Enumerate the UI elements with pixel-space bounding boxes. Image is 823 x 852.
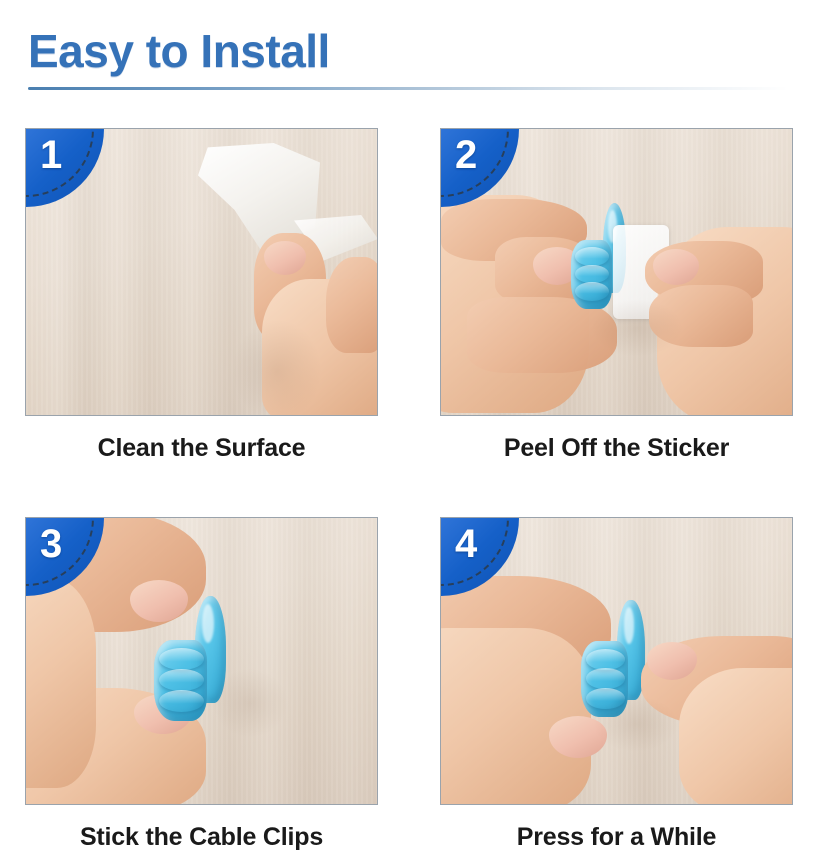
step-card-1: 1 Clean the Surface [25, 128, 378, 463]
clip-wall-shadow [212, 668, 288, 738]
clip-finger-ridge [575, 247, 609, 266]
clip-finger-ridge [575, 282, 609, 301]
clip-finger-ridge [586, 668, 626, 689]
step-caption-3: Stick the Cable Clips [25, 823, 378, 852]
clip-contact-shadow [591, 299, 683, 357]
clip-finger-ridge [586, 649, 626, 670]
clip-finger-ridge [159, 690, 204, 712]
right-hand-body [679, 668, 793, 805]
hand-thumb [326, 257, 378, 353]
step-number-2: 2 [455, 135, 477, 175]
clip-contact-shadow [593, 696, 679, 752]
step-card-4: 4 Press for a While [440, 517, 793, 852]
step-card-2: 2 Peel Off the Sticker [440, 128, 793, 463]
hand-body [25, 578, 96, 788]
step-number-1: 1 [40, 135, 62, 175]
step-card-3: 3 Stick the Cable Clips [25, 517, 378, 852]
step-number-3: 3 [40, 524, 62, 564]
clip-finger-ridge [159, 669, 204, 691]
clip-highlight [624, 607, 635, 644]
clip-finger-ridge [159, 648, 204, 670]
hand-shadow [232, 319, 322, 416]
installation-steps-grid: 1 Clean the Surface [25, 128, 798, 852]
title-underline-rule [28, 87, 788, 90]
step-photo-4: 4 [440, 517, 793, 805]
title-block: Easy to Install [28, 28, 795, 90]
step-caption-4: Press for a While [440, 823, 793, 852]
step-photo-3: 3 [25, 517, 378, 805]
step-photo-1: 1 [25, 128, 378, 416]
step-number-4: 4 [455, 524, 477, 564]
step-caption-1: Clean the Surface [25, 434, 378, 463]
page-title: Easy to Install [28, 28, 795, 74]
step-caption-2: Peel Off the Sticker [440, 434, 793, 463]
step-photo-2: 2 [440, 128, 793, 416]
